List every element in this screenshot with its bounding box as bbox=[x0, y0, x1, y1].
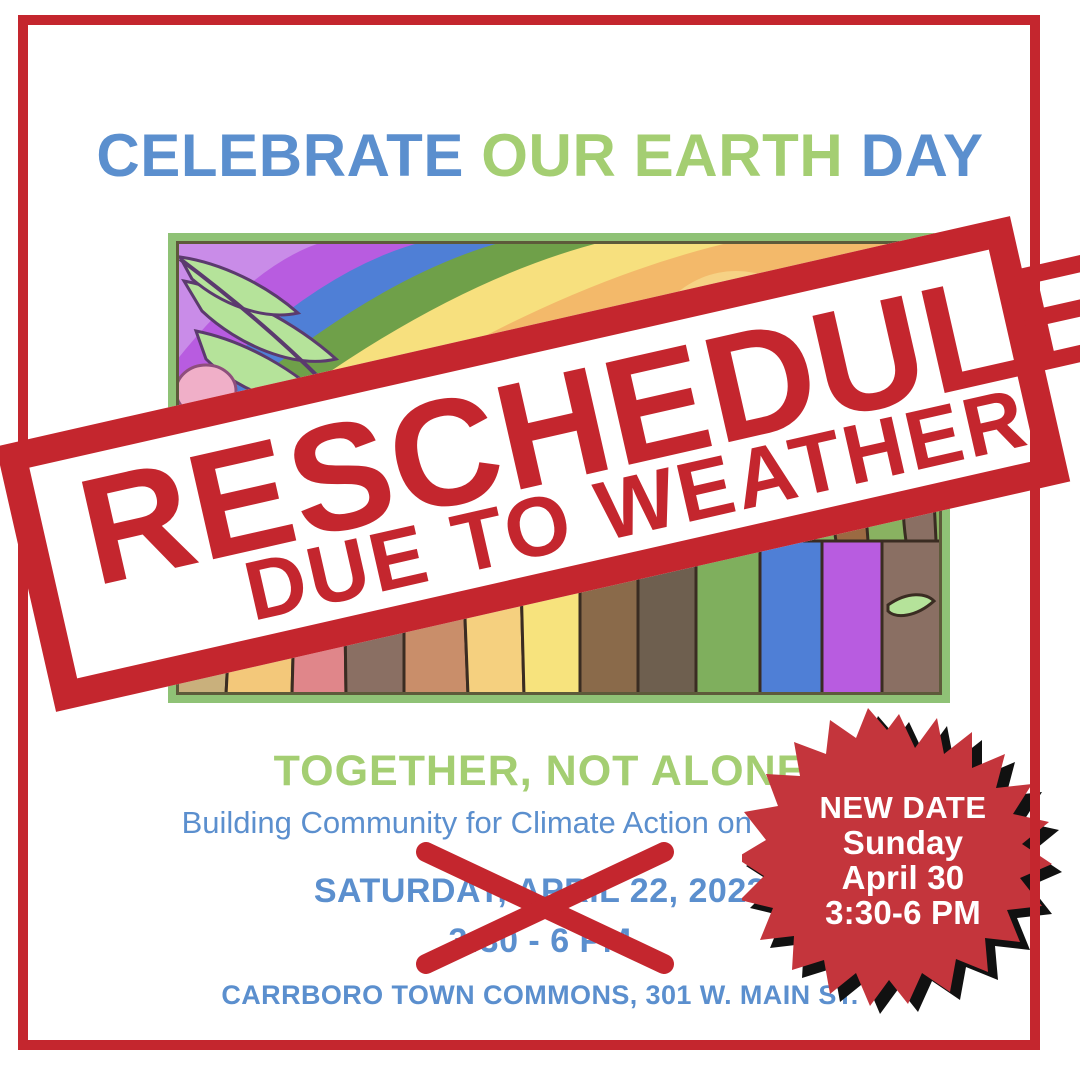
headline-part-day: DAY bbox=[861, 122, 984, 189]
headline-part-our-earth: OUR EARTH bbox=[481, 122, 860, 189]
headline-part-celebrate: CELEBRATE bbox=[96, 122, 481, 189]
new-date-starburst-badge: NEW DATE Sunday April 30 3:30-6 PM bbox=[742, 700, 1064, 1022]
page-title: CELEBRATE OUR EARTH DAY bbox=[0, 121, 1080, 190]
event-poster: CELEBRATE OUR EARTH DAY TOGETHER, NOT AL… bbox=[0, 0, 1080, 1080]
starburst-icon bbox=[742, 700, 1064, 1022]
